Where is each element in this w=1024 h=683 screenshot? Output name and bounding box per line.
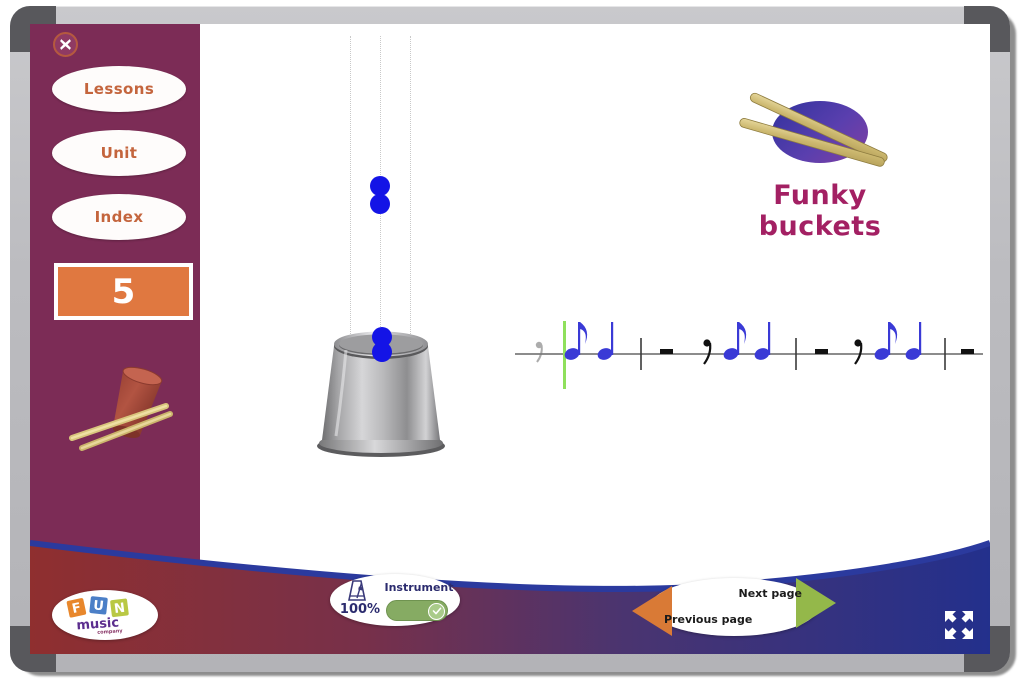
close-button[interactable] <box>53 32 78 57</box>
previous-page-label[interactable]: Previous page <box>664 613 752 626</box>
page-navigation-panel: Next page Previous page <box>650 578 818 636</box>
logo-graphic <box>710 82 930 192</box>
sidebar-item-label: Index <box>95 208 144 226</box>
instrument-toggle[interactable] <box>386 600 448 621</box>
logo-title: Funky buckets <box>710 180 930 242</box>
quarter-note <box>904 322 922 362</box>
footer-band: F U N music company <box>30 529 990 654</box>
page-number-badge[interactable]: 5 <box>54 263 193 320</box>
sidebar-item-label: Lessons <box>84 80 154 98</box>
drop-guide-line <box>350 36 351 336</box>
svg-text:company: company <box>97 628 123 635</box>
eighth-rest <box>703 339 710 364</box>
metronome-icon <box>344 579 370 603</box>
funky-buckets-logo: Funky buckets <box>710 82 930 232</box>
half-rest <box>660 349 673 354</box>
close-x-icon <box>59 38 72 51</box>
fun-music-logo-icon: F U N music company <box>64 595 146 635</box>
next-page-arrow[interactable] <box>796 578 836 628</box>
falling-note-dot <box>370 194 390 214</box>
half-rest <box>961 349 974 354</box>
falling-note-dot <box>370 176 390 196</box>
whiteboard-app: Lessons Unit Index 5 <box>0 0 1024 683</box>
sidebar-item-label: Unit <box>101 144 138 162</box>
eighth-rest <box>536 342 542 362</box>
check-icon <box>432 606 442 616</box>
quarter-note <box>753 322 771 362</box>
sidebar-item-index[interactable]: Index <box>52 194 186 240</box>
toggle-knob <box>428 603 445 620</box>
fullscreen-expand-icon[interactable] <box>944 610 974 640</box>
eighth-note <box>873 322 897 362</box>
page-number-value: 5 <box>112 275 136 309</box>
instrument-control-panel[interactable]: 100% Instrument <box>330 574 460 626</box>
footer-wave-graphic <box>30 529 990 654</box>
drop-guide-line <box>410 36 411 336</box>
svg-text:U: U <box>92 598 104 614</box>
svg-text:N: N <box>113 601 126 617</box>
falling-note-dot <box>372 342 392 362</box>
sidebar-item-lessons[interactable]: Lessons <box>52 66 186 112</box>
eighth-note <box>563 322 587 362</box>
half-rest <box>815 349 828 354</box>
instrument-label: Instrument <box>382 581 456 594</box>
sidebar-item-unit[interactable]: Unit <box>52 130 186 176</box>
bucket-with-sticks-icon <box>62 354 192 464</box>
next-page-label[interactable]: Next page <box>739 587 802 600</box>
previous-page-arrow[interactable] <box>632 586 672 636</box>
rhythm-notation-staff[interactable] <box>515 309 985 399</box>
lesson-screen: Lessons Unit Index 5 <box>30 24 990 654</box>
eighth-note <box>722 322 746 362</box>
eighth-rest <box>854 339 861 364</box>
quarter-note <box>596 322 614 362</box>
tempo-percent: 100% <box>338 602 382 617</box>
fun-music-logo-button[interactable]: F U N music company <box>52 590 158 640</box>
